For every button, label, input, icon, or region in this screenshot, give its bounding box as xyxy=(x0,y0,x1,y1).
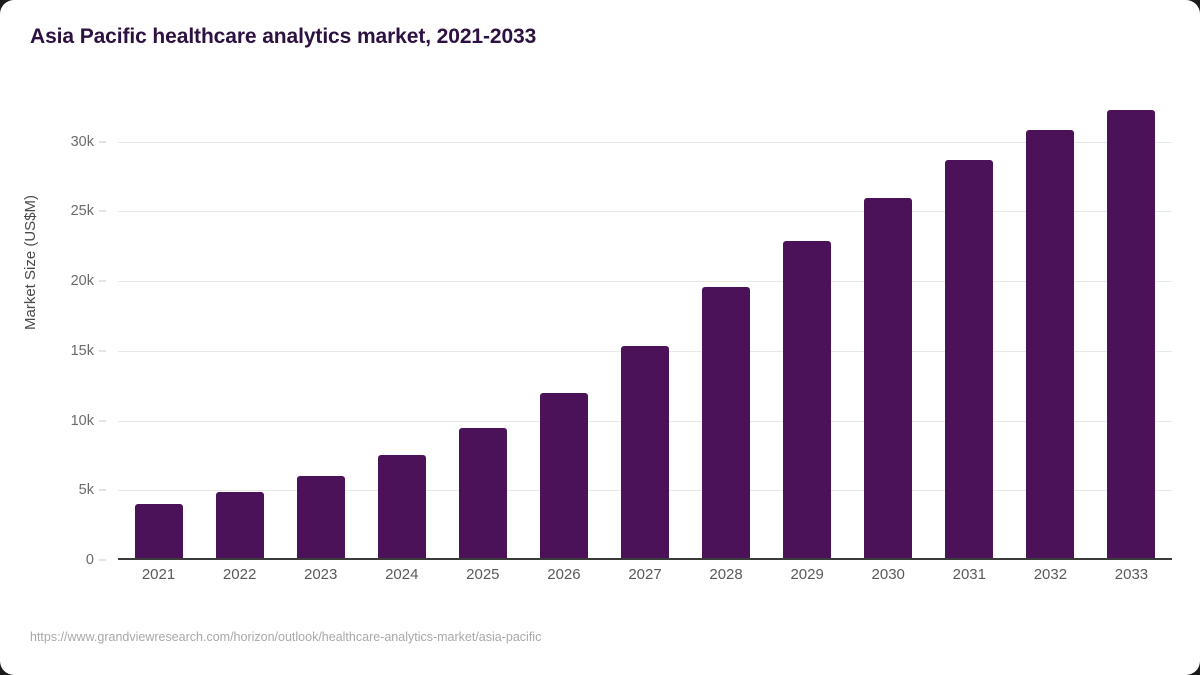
source-url[interactable]: https://www.grandviewresearch.com/horizo… xyxy=(30,630,541,644)
plot-area xyxy=(118,100,1172,560)
y-tick-mark xyxy=(99,141,106,142)
y-tick-label: 0 xyxy=(86,552,94,568)
x-tick-label-2026: 2026 xyxy=(547,566,580,583)
y-tick-label: 30k xyxy=(71,134,94,150)
y-tick-mark xyxy=(99,350,106,351)
bar-2023[interactable] xyxy=(297,476,345,559)
bar-2033[interactable] xyxy=(1107,110,1155,559)
y-tick-mark xyxy=(99,490,106,491)
x-axis-ticks: 2021202220232024202520262027202820292030… xyxy=(118,566,1172,596)
x-tick-label-2029: 2029 xyxy=(790,566,823,583)
x-tick-label-2023: 2023 xyxy=(304,566,337,583)
bar-2024[interactable] xyxy=(378,455,426,559)
x-tick-label-2025: 2025 xyxy=(466,566,499,583)
chart-card: Asia Pacific healthcare analytics market… xyxy=(0,0,1200,675)
bar-2032[interactable] xyxy=(1026,130,1074,559)
y-tick-label: 25k xyxy=(71,203,94,219)
y-tick-mark xyxy=(99,281,106,282)
bar-2025[interactable] xyxy=(459,428,507,559)
y-tick-label: 10k xyxy=(71,413,94,429)
y-tick-mark xyxy=(99,560,106,561)
x-tick-label-2027: 2027 xyxy=(628,566,661,583)
page-title: Asia Pacific healthcare analytics market… xyxy=(30,25,536,49)
y-tick-label: 15k xyxy=(71,343,94,359)
bar-series xyxy=(118,100,1172,560)
bar-2030[interactable] xyxy=(864,198,912,559)
x-tick-label-2033: 2033 xyxy=(1115,566,1148,583)
y-tick-mark xyxy=(99,211,106,212)
x-axis-line xyxy=(118,558,1172,560)
x-tick-label-2030: 2030 xyxy=(872,566,905,583)
bar-2026[interactable] xyxy=(540,393,588,559)
x-tick-label-2032: 2032 xyxy=(1034,566,1067,583)
x-tick-label-2022: 2022 xyxy=(223,566,256,583)
bar-2022[interactable] xyxy=(216,492,264,559)
x-tick-label-2024: 2024 xyxy=(385,566,418,583)
bar-2021[interactable] xyxy=(135,504,183,559)
x-tick-label-2031: 2031 xyxy=(953,566,986,583)
bar-2029[interactable] xyxy=(783,241,831,559)
y-tick-label: 5k xyxy=(79,482,94,498)
bar-2031[interactable] xyxy=(945,160,993,559)
x-tick-label-2021: 2021 xyxy=(142,566,175,583)
y-axis-ticks: 05k10k15k20k25k30k xyxy=(0,100,106,560)
bar-2027[interactable] xyxy=(621,346,669,559)
bar-2028[interactable] xyxy=(702,287,750,559)
x-tick-label-2028: 2028 xyxy=(709,566,742,583)
y-tick-mark xyxy=(99,420,106,421)
y-tick-label: 20k xyxy=(71,273,94,289)
